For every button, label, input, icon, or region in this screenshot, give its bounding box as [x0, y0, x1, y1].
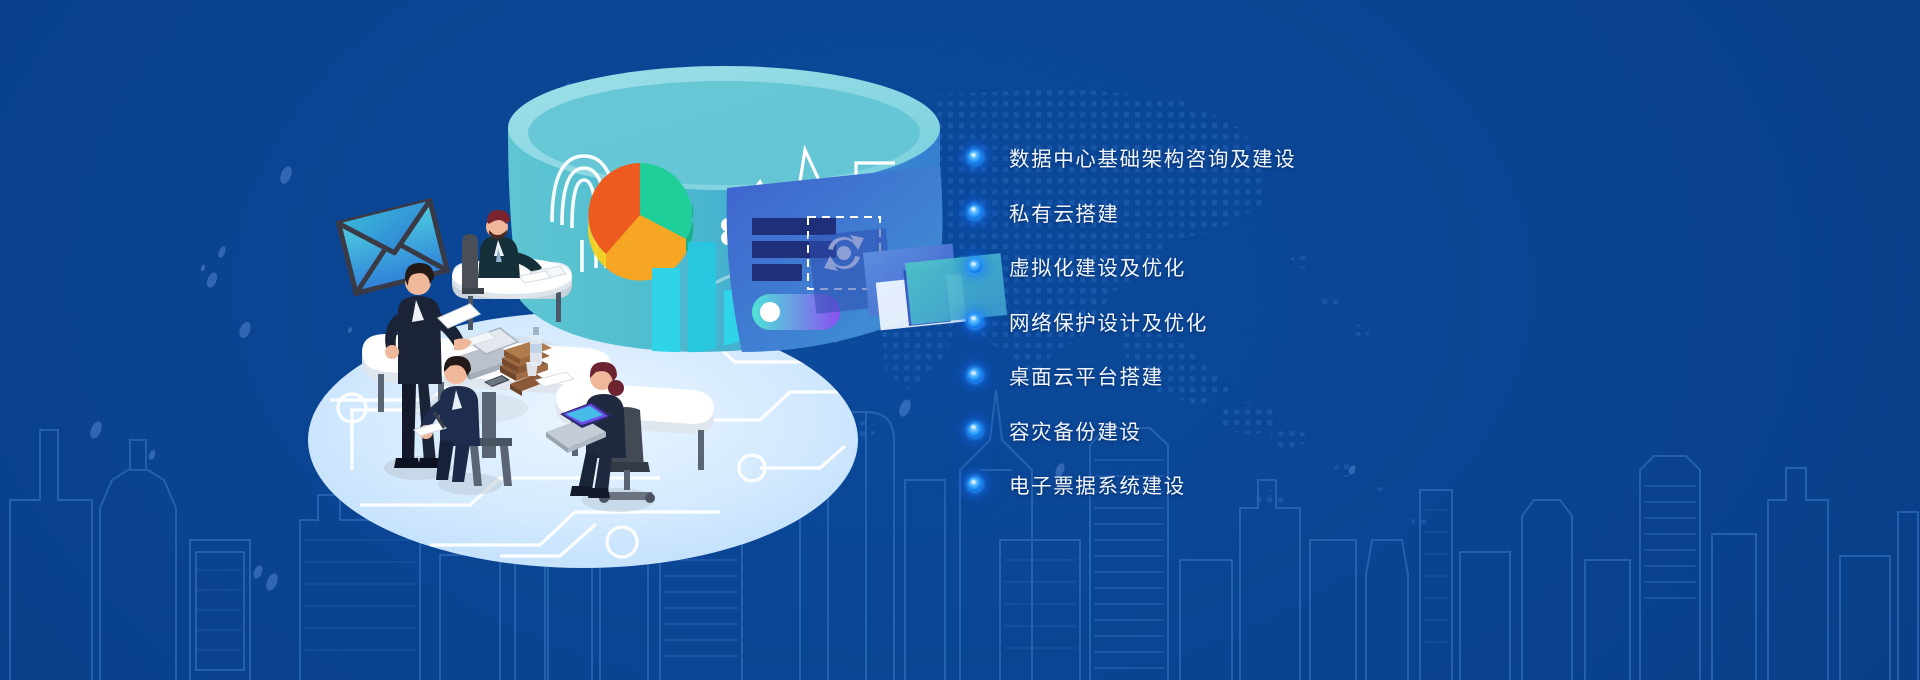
glow-dot-icon [968, 205, 982, 219]
datacenter-illustration [0, 0, 1920, 680]
pie-chart-icon [588, 163, 693, 281]
person-seated-top [462, 210, 566, 294]
person-seated-laptop [546, 362, 655, 512]
service-label: 网络保护设计及优化 [1009, 306, 1208, 336]
glow-dot-icon [968, 423, 982, 437]
floating-particles [0, 0, 1920, 680]
service-item[interactable]: 网络保护设计及优化 [968, 294, 1488, 349]
glow-dot-icon [968, 477, 982, 491]
desk-top [452, 258, 572, 364]
water-bottle [530, 327, 542, 366]
toggle-switch-icon [752, 294, 840, 330]
dotted-world-map [0, 0, 1920, 680]
services-list: 数据中心基础架构咨询及建设 私有云搭建 虚拟化建设及优化 网络保护设计及优化 桌… [968, 130, 1488, 512]
service-item[interactable]: 桌面云平台搭建 [968, 348, 1488, 403]
service-label: 容灾备份建设 [1009, 415, 1142, 445]
service-label: 桌面云平台搭建 [1009, 360, 1164, 390]
service-item[interactable]: 数据中心基础架构咨询及建设 [968, 130, 1488, 185]
meeting-scene [362, 210, 714, 512]
service-label: 虚拟化建设及优化 [1009, 251, 1186, 281]
service-label: 数据中心基础架构咨询及建设 [1009, 142, 1296, 172]
service-label: 电子票据系统建设 [1009, 469, 1186, 499]
server-panel [727, 166, 943, 352]
service-item[interactable]: 虚拟化建设及优化 [968, 239, 1488, 294]
person-seated-center [414, 356, 512, 495]
data-cylinder [508, 66, 1007, 364]
envelope-icon [339, 201, 448, 294]
desk-objects [452, 327, 574, 396]
glow-dot-icon [968, 259, 982, 273]
laptop-purple [546, 402, 612, 453]
service-label: 私有云搭建 [1009, 197, 1120, 227]
service-item[interactable]: 私有云搭建 [968, 185, 1488, 240]
fingerprint-icon [552, 156, 616, 272]
books [500, 340, 552, 381]
circuit-platform-ellipse [308, 312, 858, 568]
laptop [452, 328, 518, 380]
desk-main [362, 334, 612, 440]
desk-right [556, 382, 714, 470]
city-skyline-outline [0, 0, 1920, 680]
glow-dot-icon [968, 314, 982, 328]
service-banner: 数据中心基础架构咨询及建设 私有云搭建 虚拟化建设及优化 网络保护设计及优化 桌… [0, 0, 1920, 680]
glow-dot-icon [968, 368, 982, 382]
service-item[interactable]: 电子票据系统建设 [968, 457, 1488, 512]
person-standing-presenter [384, 263, 480, 480]
bar-chart-icon [652, 242, 752, 364]
line-chart-icon [700, 150, 895, 290]
glow-dot-icon [968, 150, 982, 164]
service-item[interactable]: 容灾备份建设 [968, 403, 1488, 458]
sync-icon [808, 217, 880, 289]
